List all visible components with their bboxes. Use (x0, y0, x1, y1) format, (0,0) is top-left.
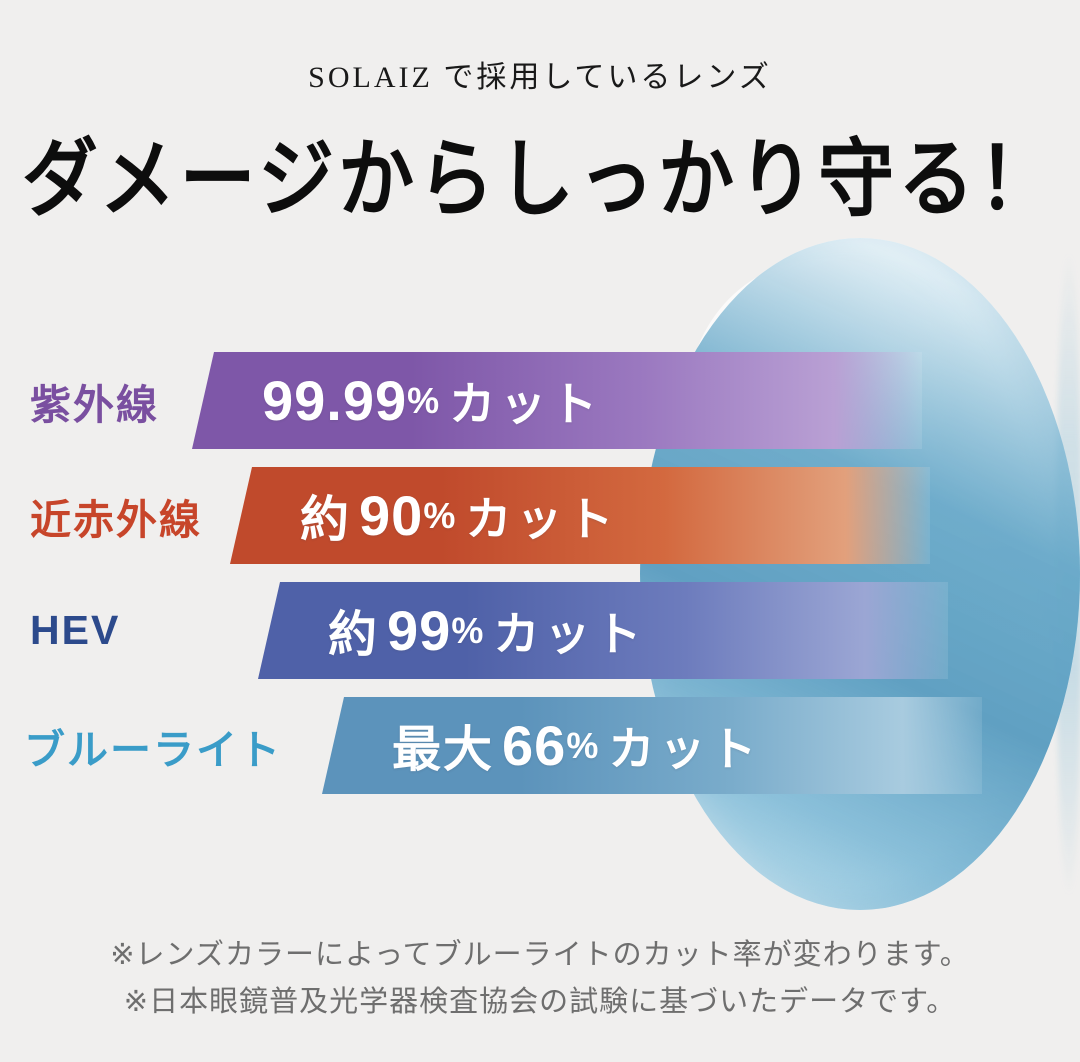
page-title: ダメージからしっかり守る！ (0, 110, 1080, 233)
bar-value-suffix: カット (493, 598, 646, 664)
lens-protection-infographic: SOLAIZ で採用しているレンズ ダメージからしっかり守る！ 紫外線99.99… (0, 0, 1080, 1062)
footnote-line: ※日本眼鏡普及光学器検査協会の試験に基づいたデータです。 (0, 981, 1080, 1024)
bar-value-prefix: 約 (300, 480, 351, 551)
bar-value-percent-sign: % (451, 610, 483, 652)
bar-value-percent-sign: % (407, 380, 439, 422)
bar-value-label: 約90%カット (300, 467, 618, 564)
bar-value-number: 99.99 (262, 368, 407, 433)
bar-value-suffix: カット (465, 483, 618, 549)
footnote-line: ※レンズカラーによってブルーライトのカット率が変わります。 (0, 934, 1080, 977)
header: SOLAIZ で採用しているレンズ ダメージからしっかり守る！ (0, 0, 1080, 220)
bar-value-label: 99.99%カット (262, 352, 602, 449)
bar-category-label: HEV (30, 582, 120, 679)
bar-value-prefix: 最大 (392, 710, 494, 781)
bar-value-label: 約99%カット (328, 582, 646, 679)
bar-category-label: 近赤外線 (30, 467, 202, 564)
bar-value-number: 66 (502, 713, 566, 778)
bar-category-label: 紫外線 (30, 352, 159, 449)
footnotes: ※レンズカラーによってブルーライトのカット率が変わります。※日本眼鏡普及光学器検… (0, 930, 1080, 1028)
bar-category-label: ブルーライト (24, 697, 282, 794)
bar-value-label: 最大66%カット (392, 697, 761, 794)
bar-row: HEV約99%カット (0, 582, 1080, 679)
cut-rate-bar-chart: 紫外線99.99%カット近赤外線約90%カットHEV約99%カットブルーライト最… (0, 352, 1080, 812)
bar-value-suffix: カット (608, 713, 761, 779)
bar-value-prefix: 約 (328, 595, 379, 666)
bar-value-number: 90 (359, 483, 423, 548)
bar-row: ブルーライト最大66%カット (0, 697, 1080, 794)
eyebrow-text: SOLAIZ で採用しているレンズ (0, 52, 1080, 96)
bar-row: 近赤外線約90%カット (0, 467, 1080, 564)
bar-value-suffix: カット (449, 368, 602, 434)
bar-value-percent-sign: % (566, 725, 598, 767)
bar-value-percent-sign: % (423, 495, 455, 537)
bar-row: 紫外線99.99%カット (0, 352, 1080, 449)
bar-value-number: 99 (387, 598, 451, 663)
